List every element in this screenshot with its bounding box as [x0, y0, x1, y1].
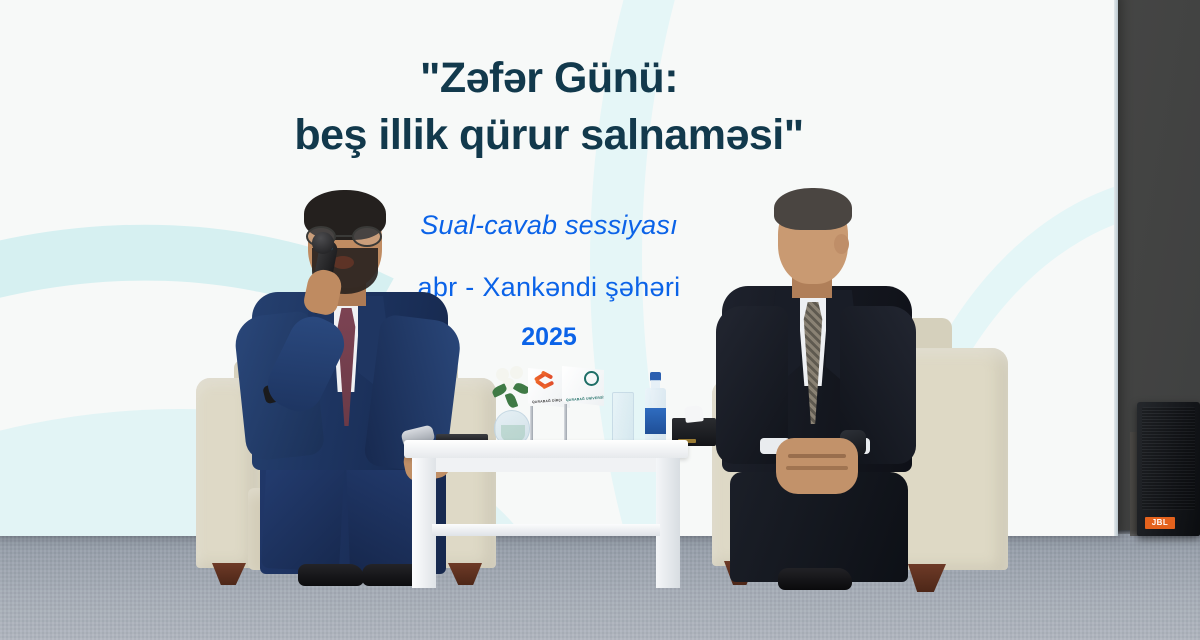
eyeglass-lens-right	[352, 226, 382, 247]
table-leg-left	[412, 458, 436, 588]
event-title: "Zəfər Günü: beş illik qürur salnaməsi"	[0, 50, 1108, 164]
speaker-grille	[1142, 407, 1195, 510]
logo-stroke	[541, 370, 553, 379]
conference-photo-scene: JBL "Zəfər Günü: beş illik qürur salnamə…	[0, 0, 1200, 640]
flag-cloth: QARABAĞ UNİVERSİTETİ	[562, 366, 604, 406]
event-place-line: abr - Xankəndi şəhəri	[0, 272, 1108, 303]
event-title-line-1: "Zəfər Günü:	[420, 54, 678, 102]
coffee-table	[404, 440, 688, 592]
speaker-left-thigh-near	[261, 452, 345, 572]
speaker-left-shoe-left	[298, 564, 364, 586]
speaker-right-clasped-hands	[776, 438, 858, 494]
flower-leaf	[513, 381, 530, 396]
eyeglass-bridge	[336, 235, 352, 237]
qarabag-fund-logo-icon	[534, 373, 554, 389]
water-bottle	[645, 372, 666, 446]
speaker-right-person	[716, 186, 924, 590]
logo-stroke	[542, 381, 555, 390]
table-apron	[412, 458, 680, 472]
event-subtitle: Sual-cavab sessiyası	[0, 210, 1108, 241]
jbl-speaker-cabinet: JBL	[1137, 402, 1200, 536]
jbl-logo: JBL	[1145, 517, 1175, 529]
table-flag-left-text: QARABAĞ DİRÇƏLİŞ FONDU	[532, 397, 566, 404]
bottle-label	[645, 408, 666, 434]
tissue-sheet	[684, 405, 704, 423]
qarabag-university-logo-icon	[584, 371, 599, 386]
speaker-right-shoe	[778, 568, 852, 590]
backdrop-right-edge	[1114, 0, 1118, 536]
speaker-right-hair	[774, 188, 852, 230]
table-lower-shelf	[432, 524, 660, 536]
drinking-glass	[612, 392, 634, 446]
speaker-right-ear	[834, 234, 849, 254]
table-leg-right	[656, 458, 680, 588]
table-flag-right-text: QARABAĞ UNİVERSİTETİ	[566, 395, 600, 402]
flag-pole	[564, 404, 567, 444]
flower-arrangement	[492, 366, 534, 416]
table-top	[404, 440, 688, 458]
event-title-line-2: beş illik qürur salnaməsi"	[0, 107, 1108, 164]
flower-leaf	[505, 392, 519, 409]
flower-petal	[510, 366, 523, 379]
